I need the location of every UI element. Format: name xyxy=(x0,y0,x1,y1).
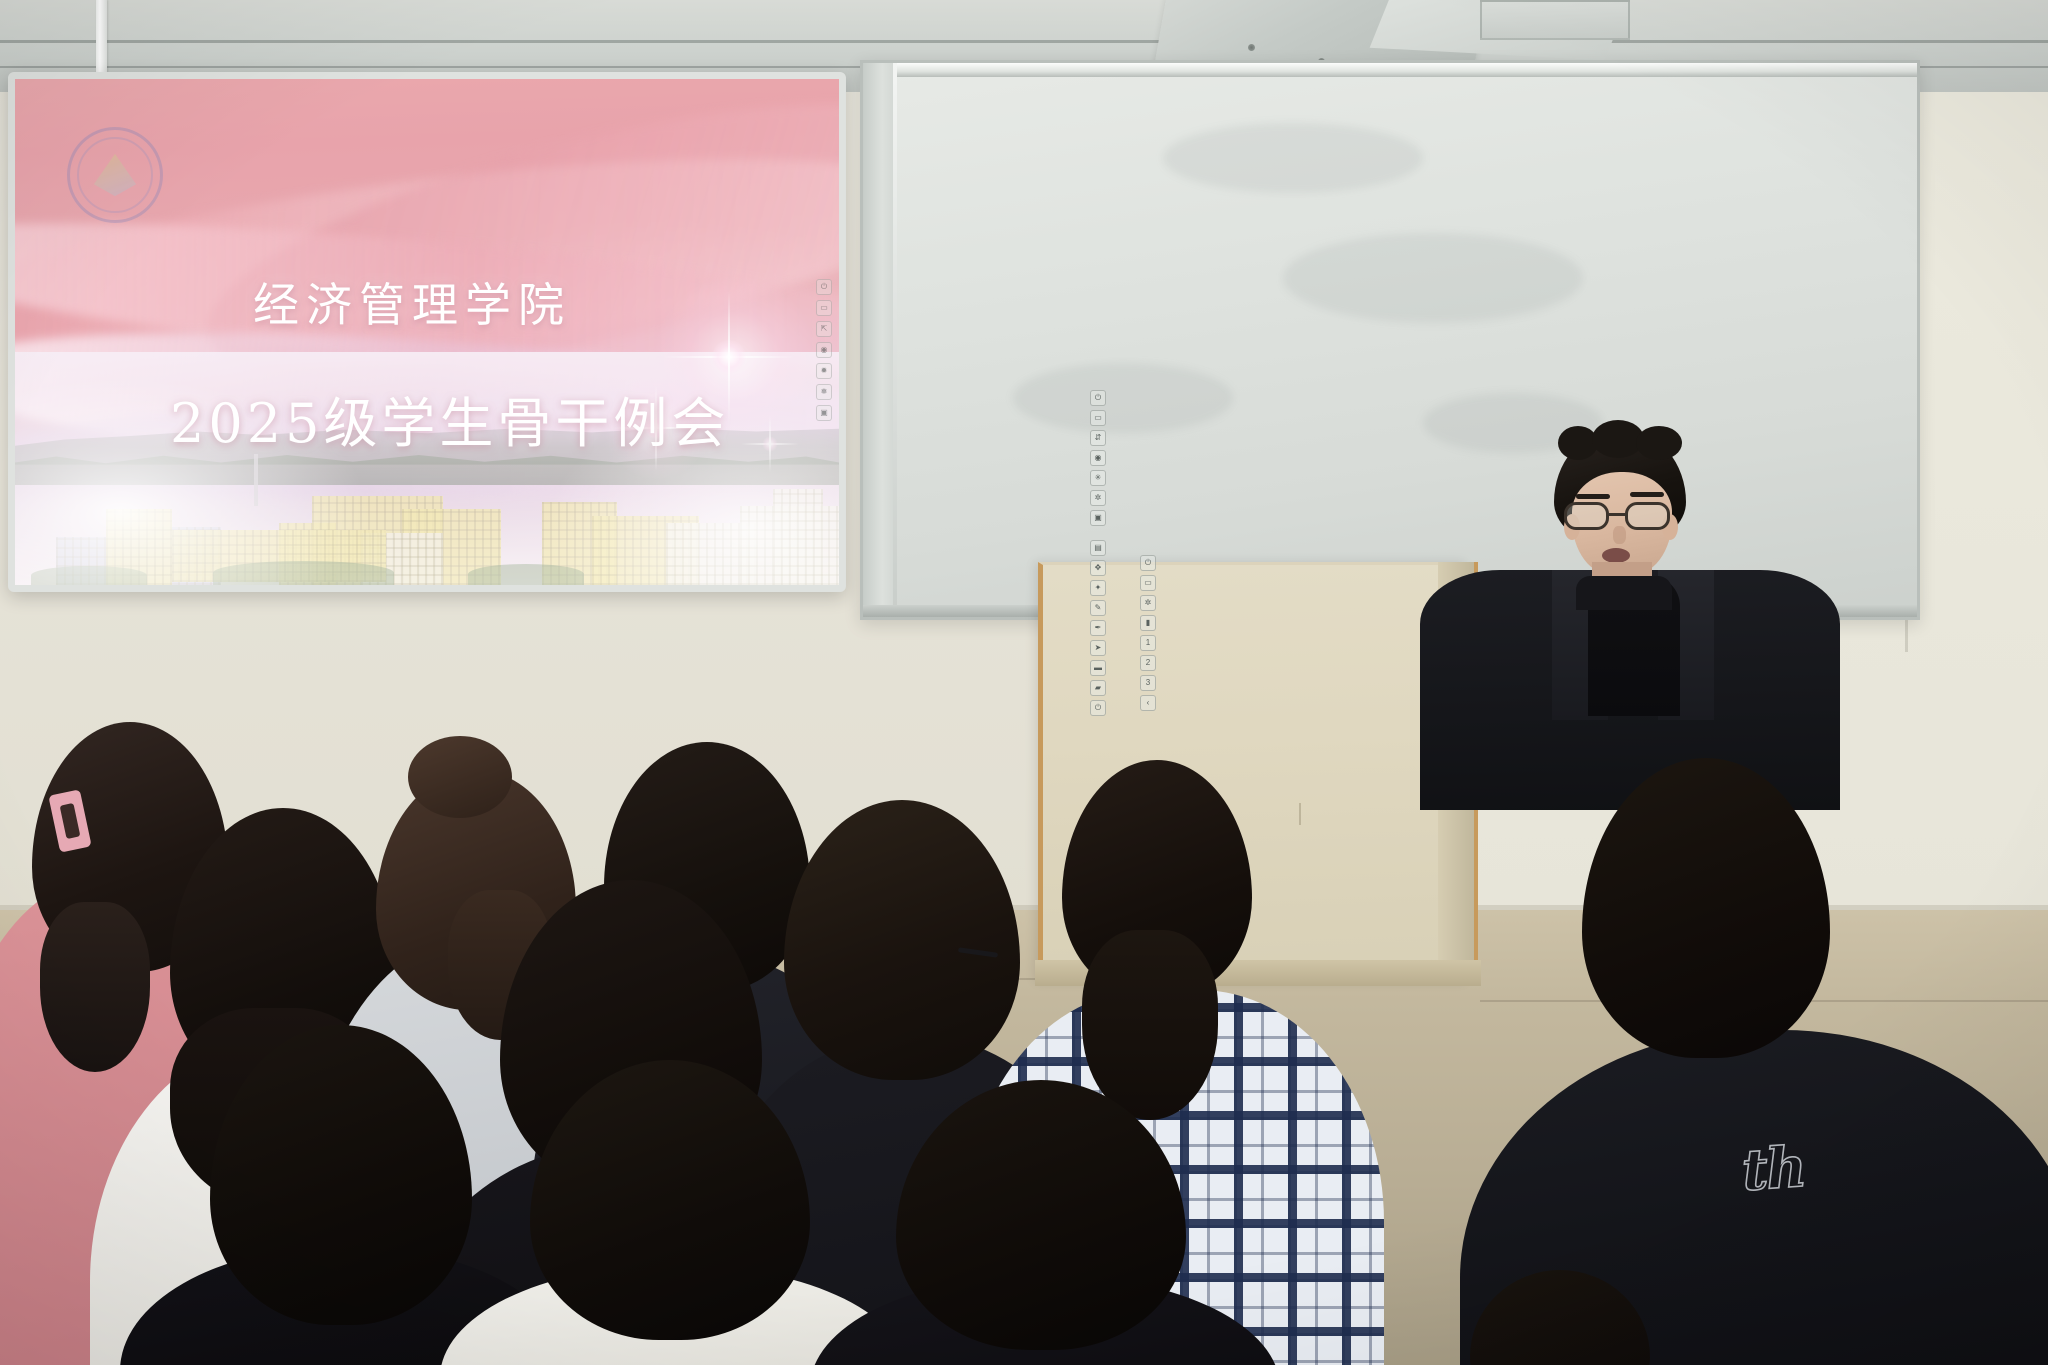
jacket-print-text: th xyxy=(1740,1134,1807,1204)
whiteboard-divider xyxy=(893,63,897,620)
board-control-column-left[interactable]: ⏻ ▭ ⇵ ◉ ✳ ✲ ▣ ▤ ✥ ✦ ✎ ✒ ➤ ▬ ▰ ⏻ xyxy=(1090,390,1106,716)
power-icon[interactable]: ⏻ xyxy=(1090,390,1106,406)
display-icon[interactable]: ▭ xyxy=(816,300,832,316)
screen-icon[interactable]: ▬ xyxy=(1090,660,1106,676)
board-control-column-right[interactable]: ⏻ ▭ ✲ ▮ 1 2 3 ‹ xyxy=(1140,555,1156,711)
input1-icon[interactable]: 1 xyxy=(1140,635,1156,651)
smart-board-side-toolbar[interactable]: ⏻ ▭ ⇱ ◉ ✹ ❅ ▣ xyxy=(813,279,835,421)
freeze-icon[interactable]: ✲ xyxy=(1140,595,1156,611)
note-icon[interactable]: ▤ xyxy=(1090,540,1106,556)
mouth xyxy=(1602,548,1630,563)
speaker-at-podium xyxy=(1480,430,1780,610)
list-item xyxy=(840,1080,1240,1365)
marker-icon[interactable]: ✒ xyxy=(1090,620,1106,636)
avatar xyxy=(1470,1270,1650,1365)
input2-icon[interactable]: 2 xyxy=(1140,655,1156,671)
battery-icon[interactable]: ▰ xyxy=(1090,680,1106,696)
list-item xyxy=(160,1025,520,1365)
projected-slide: 经济管理学院 2025级学生骨干例会 ⏻ ▭ ⇱ ◉ ✹ ❅ ▣ xyxy=(15,79,839,585)
power-icon[interactable]: ⏻ xyxy=(816,279,832,295)
list-item xyxy=(1470,1270,1650,1365)
back-icon[interactable]: ‹ xyxy=(1140,695,1156,711)
input3-icon[interactable]: 3 xyxy=(1140,675,1156,691)
record-icon[interactable]: ◉ xyxy=(816,342,832,358)
brightness-icon[interactable]: ✳ xyxy=(1090,470,1106,486)
usb-icon[interactable]: ⇱ xyxy=(816,321,832,337)
classroom-scene: 经济管理学院 2025级学生骨干例会 ⏻ ▭ ⇱ ◉ ✹ ❅ ▣ ⏻ xyxy=(0,0,2048,1365)
whiteboard-left-edge xyxy=(863,63,895,617)
interactive-smart-board[interactable]: 经济管理学院 2025级学生骨干例会 ⏻ ▭ ⇱ ◉ ✹ ❅ ▣ xyxy=(8,72,846,592)
turtleneck-collar xyxy=(1576,576,1672,610)
camera-icon[interactable]: ▣ xyxy=(816,405,832,421)
hair-bun-icon xyxy=(408,736,512,818)
mist-overlay xyxy=(15,372,378,585)
eyebrow xyxy=(1630,492,1664,497)
eraser-smudge xyxy=(1283,233,1583,323)
cursor-icon[interactable]: ➤ xyxy=(1090,640,1106,656)
camera-icon[interactable]: ▣ xyxy=(1090,510,1106,526)
highlight-icon[interactable]: ✦ xyxy=(1090,580,1106,596)
usb-icon[interactable]: ⇵ xyxy=(1090,430,1106,446)
avatar xyxy=(1582,758,1830,1058)
hair-tuft xyxy=(1636,426,1682,460)
list-item xyxy=(470,1060,870,1365)
record-icon[interactable]: ◉ xyxy=(1090,450,1106,466)
ceiling-seam xyxy=(0,40,2048,43)
glasses-bridge xyxy=(1609,513,1625,516)
avatar xyxy=(896,1080,1186,1350)
mist-overlay xyxy=(542,403,839,585)
avatar xyxy=(784,800,1020,1080)
eyebrow xyxy=(1576,494,1610,499)
freeze-icon[interactable]: ❅ xyxy=(816,384,832,400)
nose xyxy=(1613,526,1626,544)
avatar xyxy=(530,1060,810,1340)
university-emblem-watermark xyxy=(67,127,163,223)
ceiling-vent-panel xyxy=(1480,0,1630,40)
pen-icon[interactable]: ✎ xyxy=(1090,600,1106,616)
eraser-smudge xyxy=(1013,363,1233,433)
display-icon[interactable]: ▭ xyxy=(1090,410,1106,426)
whiteboard-top-rail xyxy=(863,63,1917,77)
duct-screw-icon xyxy=(1248,44,1255,51)
lock-icon[interactable]: ▮ xyxy=(1140,615,1156,631)
left-lens xyxy=(1564,502,1609,530)
right-lens xyxy=(1625,502,1670,530)
display-icon[interactable]: ▭ xyxy=(1140,575,1156,591)
power-icon[interactable]: ⏻ xyxy=(1090,700,1106,716)
power-icon[interactable]: ⏻ xyxy=(1140,555,1156,571)
eraser-smudge xyxy=(1163,123,1423,193)
freeze-icon[interactable]: ✲ xyxy=(1090,490,1106,506)
avatar xyxy=(210,1025,472,1325)
brightness-icon[interactable]: ✹ xyxy=(816,363,832,379)
annotate-icon[interactable]: ✥ xyxy=(1090,560,1106,576)
